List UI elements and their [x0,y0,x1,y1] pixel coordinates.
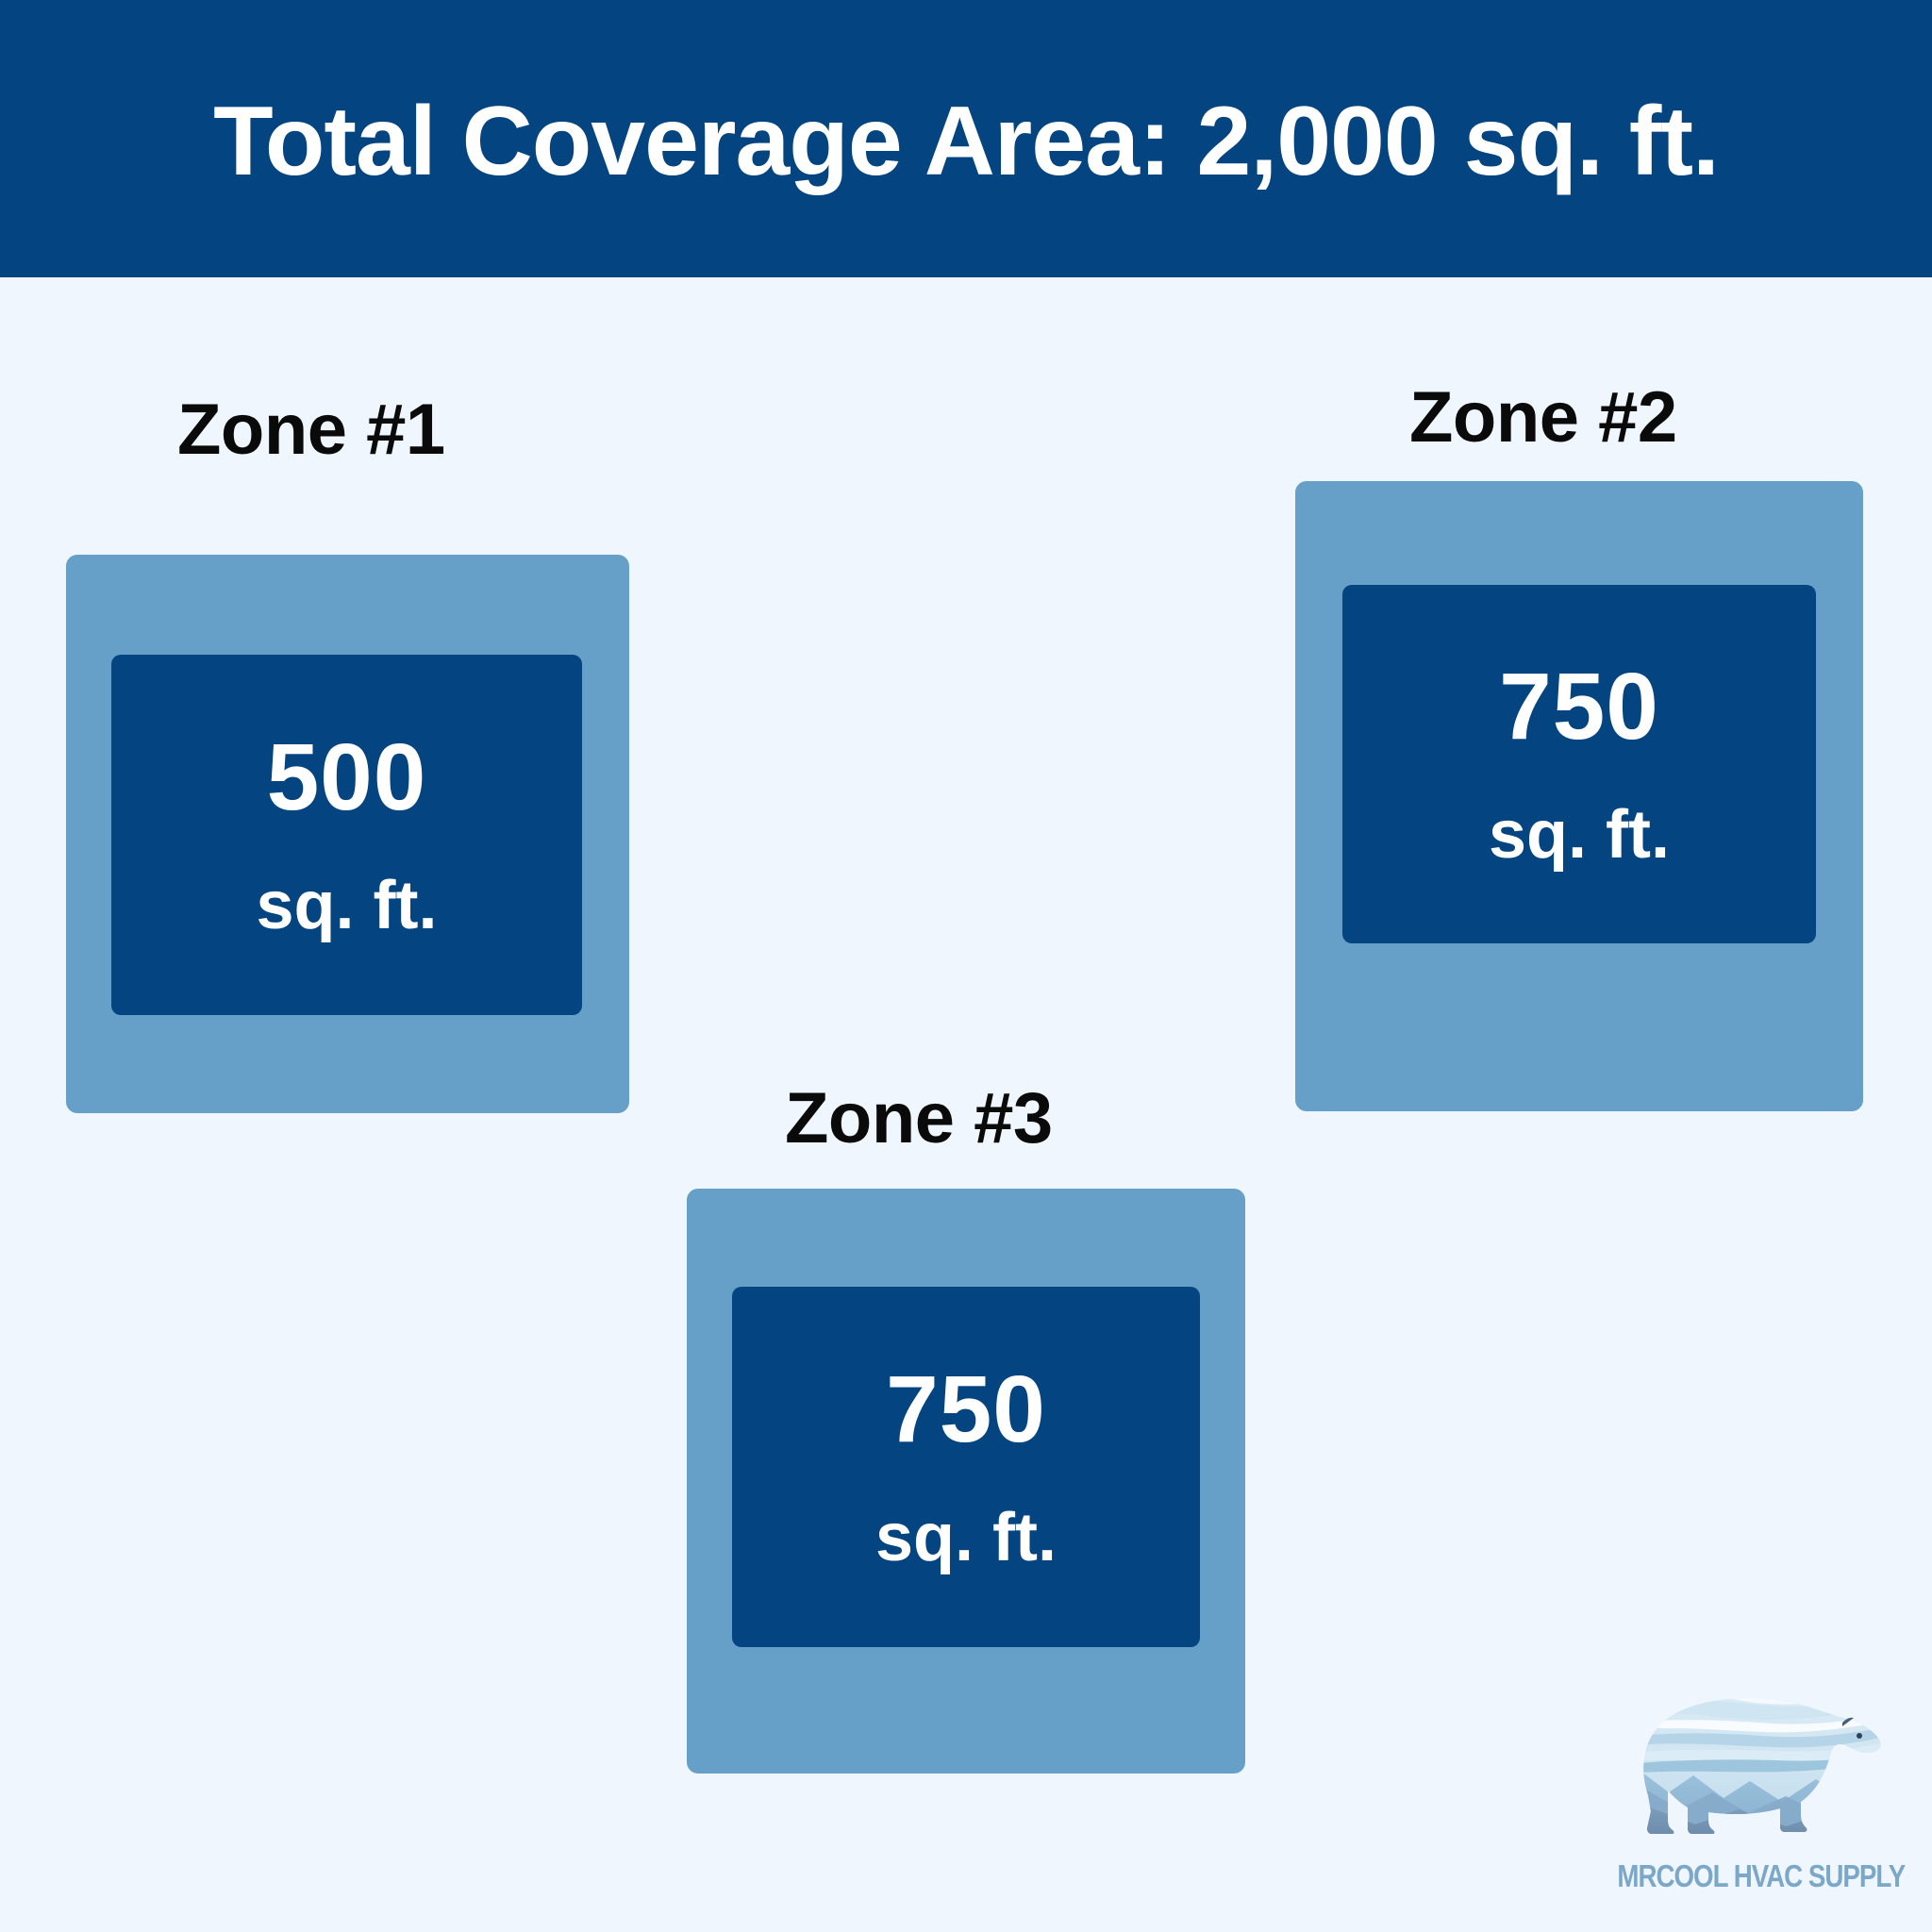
zone-2-outer-area: 750 sq. ft. [1295,481,1863,1111]
zone-1-unit: sq. ft. [257,871,438,942]
zone-1-outer-area: 500 sq. ft. [66,555,629,1113]
zone-3-value: 750 [886,1360,1046,1459]
zone-2-value: 750 [1499,658,1659,757]
zone-3-inner-area: 750 sq. ft. [732,1287,1200,1647]
zone-2-unit: sq. ft. [1489,800,1670,872]
zone-3-unit: sq. ft. [875,1503,1057,1574]
zone-2-label: Zone #2 [1409,382,1677,454]
page-title: Total Coverage Area: 2,000 sq. ft. [213,92,1719,191]
zone-3-label: Zone #3 [785,1083,1053,1155]
zone-1-inner-area: 500 sq. ft. [111,655,582,1015]
zone-2-inner-area: 750 sq. ft. [1342,585,1816,943]
zone-1-value: 500 [267,728,427,827]
header-banner: Total Coverage Area: 2,000 sq. ft. [0,0,1932,277]
polar-bear-logo-icon [1607,1677,1890,1857]
brand-logo: MRCOOL HVAC SUPPLY [1592,1677,1904,1913]
logo-wordmark: MRCOOL HVAC SUPPLY [1617,1858,1878,1894]
zone-3-outer-area: 750 sq. ft. [687,1189,1245,1774]
zone-1-label: Zone #1 [177,394,445,466]
infographic-canvas: Total Coverage Area: 2,000 sq. ft. Zone … [0,0,1932,1932]
